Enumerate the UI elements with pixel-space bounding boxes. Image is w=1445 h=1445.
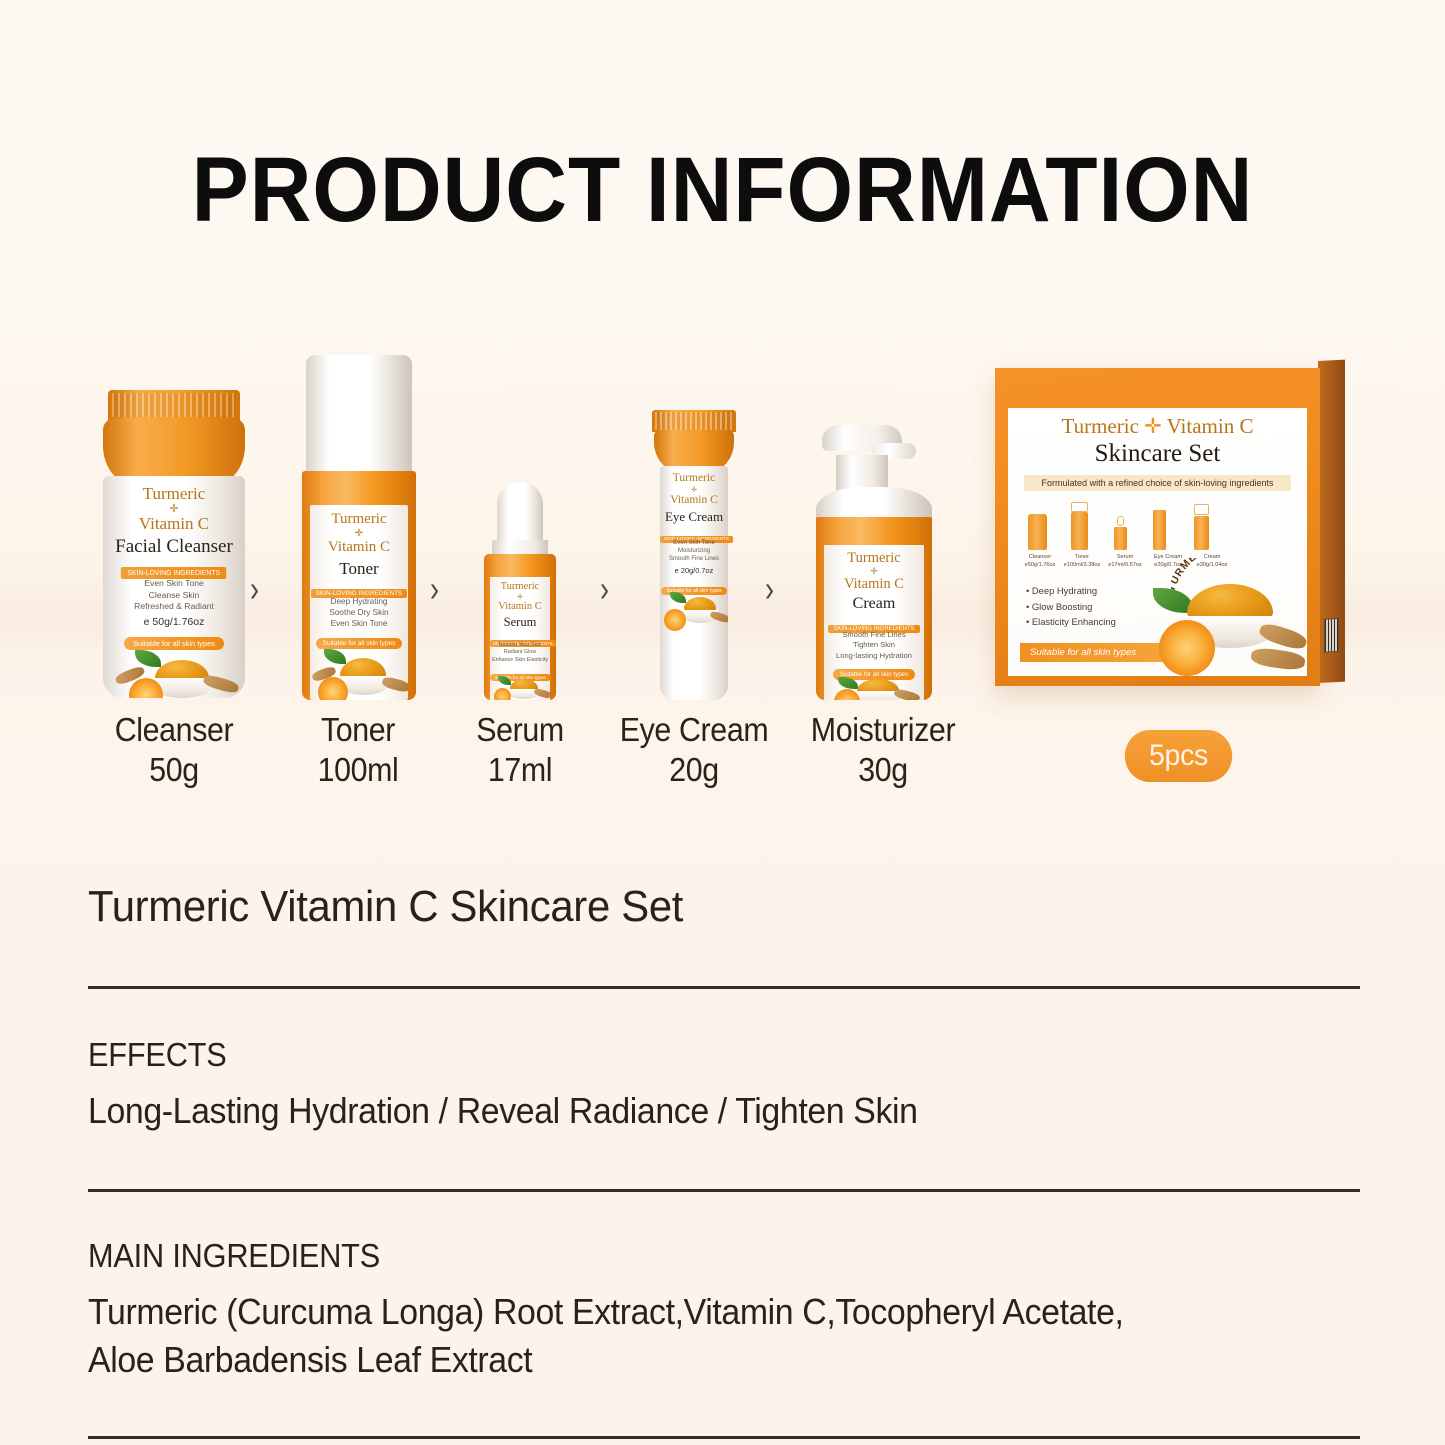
benefit-line: Smooth Fine Lines xyxy=(660,555,728,563)
leaf-icon xyxy=(498,676,511,685)
tube-shape xyxy=(1153,510,1166,550)
benefit-line: Refreshed & Radiant xyxy=(103,601,245,613)
product-cleanser[interactable]: Turmeric ✛ Vitamin C Facial Cleanser SKI… xyxy=(98,390,250,700)
pcs-badge: 5pcs xyxy=(1125,730,1232,782)
caption-serum: Serum 17ml xyxy=(441,710,599,790)
benefit-line: Enhance Skin Elasticity xyxy=(490,657,550,664)
serum-dropper-cap xyxy=(497,482,543,544)
eye-cream-benefits: Even Skin Tone Moisturizing Smooth Fine … xyxy=(660,539,728,563)
cleanser-benefits: Even Skin Tone Cleanse Skin Refreshed & … xyxy=(103,578,245,613)
turmeric-root xyxy=(1250,646,1306,671)
plus-icon: ✛ xyxy=(660,485,728,494)
cleanser-sli-badge: SKIN-LOVING INGREDIENTS xyxy=(121,567,227,579)
product-eye-cream[interactable]: Turmeric ✛ Vitamin C Eye Cream SKIN-LOVI… xyxy=(640,410,748,700)
serum-product-name: Serum xyxy=(490,615,550,630)
toner-turmeric-photo xyxy=(310,647,408,700)
dropper-shape xyxy=(1117,516,1124,526)
gift-box-front: Turmeric ✛ Vitamin C Skincare Set Formul… xyxy=(995,368,1320,686)
moisturizer-brand-top: Turmeric xyxy=(824,550,924,567)
gift-box-tagline: Formulated with a refined choice of skin… xyxy=(1024,475,1291,491)
pump-shape xyxy=(1194,504,1209,515)
caption-eye-cream: Eye Cream 20g xyxy=(602,710,786,790)
eye-cream-brand-bottom: Vitamin C xyxy=(660,494,728,506)
caption-size: 100ml xyxy=(279,750,437,790)
toner-product-name: Toner xyxy=(310,559,408,579)
bottle-shape xyxy=(1194,516,1209,550)
item-size: e50g/1.76oz xyxy=(1025,562,1056,568)
leaf-icon xyxy=(135,650,161,667)
benefit-line: Long-lasting Hydration xyxy=(824,651,924,661)
plus-icon: ✛ xyxy=(490,593,550,601)
gift-box-turmeric-photo xyxy=(1147,558,1307,676)
divider-bottom xyxy=(88,1436,1360,1439)
separator-chevron: › xyxy=(250,569,259,611)
effects-body: Long-Lasting Hydration / Reveal Radiance… xyxy=(88,1087,1284,1135)
cap-shape xyxy=(1071,502,1088,512)
toner-benefits: Deep Hydrating Soothe Dry Skin Even Skin… xyxy=(310,596,408,629)
product-serum[interactable]: Turmeric ✛ Vitamin C Serum SKIN-LOVING I… xyxy=(470,482,570,700)
orange-slice xyxy=(494,688,511,700)
item-caption: Cleanser e50g/1.76oz xyxy=(1020,554,1060,569)
page-title: PRODUCT INFORMATION xyxy=(51,140,1395,240)
benefit-line: Deep Hydrating xyxy=(310,596,408,607)
gift-box-set-name: Skincare Set xyxy=(1008,440,1307,468)
moisturizer-shoulder xyxy=(816,487,932,519)
moisturizer-turmeric-photo xyxy=(824,677,924,700)
item-caption: Serum e17ml/0.57oz xyxy=(1104,554,1146,569)
ingredients-body-line2: Aloe Barbadensis Leaf Extract xyxy=(88,1336,1284,1384)
orange-slice xyxy=(318,677,348,700)
divider-top xyxy=(88,986,1360,989)
leaf-icon xyxy=(670,592,686,603)
separator-chevron: › xyxy=(600,569,609,611)
item-name: Serum xyxy=(1117,554,1133,560)
effects-heading: EFFECTS xyxy=(88,1035,1271,1075)
icon-serum xyxy=(1110,516,1132,550)
leaf-icon xyxy=(324,649,346,664)
caption-name: Moisturizer xyxy=(783,710,984,750)
orange-slice xyxy=(664,609,686,631)
turmeric-root xyxy=(709,610,728,624)
benefit-line: Tighten Skin xyxy=(824,640,924,650)
brand-left: Turmeric xyxy=(1062,414,1139,438)
cleanser-net-weight: e 50g/1.76oz xyxy=(103,616,245,628)
eye-cream-crimp-ribs xyxy=(655,412,733,430)
separator-chevron: › xyxy=(430,569,439,611)
item-name: Toner xyxy=(1075,554,1089,560)
bottle-shape xyxy=(1114,527,1127,550)
orange-slice xyxy=(1159,620,1215,676)
gift-box-spine xyxy=(1318,360,1345,683)
item-size: e17ml/0.57oz xyxy=(1108,562,1142,568)
benefit-line: Even Skin Tone xyxy=(310,618,408,629)
benefit-line: Moisturizing xyxy=(660,547,728,555)
serum-benefits: Nourish Your Skin Radiant Glow Enhance S… xyxy=(490,642,550,664)
caption-size: 30g xyxy=(783,750,984,790)
ingredients-body-line1: Turmeric (Curcuma Longa) Root Extract,Vi… xyxy=(88,1288,1284,1336)
divider-middle xyxy=(88,1189,1360,1192)
caption-cleanser: Cleanser 50g xyxy=(95,710,253,790)
bottle-shape xyxy=(1071,512,1088,550)
caption-moisturizer: Moisturizer 30g xyxy=(783,710,984,790)
toner-brand-bottom: Vitamin C xyxy=(310,539,408,556)
gift-box-bullets: • Deep Hydrating • Glow Boosting • Elast… xyxy=(1026,583,1116,630)
caption-name: Cleanser xyxy=(95,710,253,750)
moisturizer-benefits: Smooth Fine Lines Tighten Skin Long-last… xyxy=(824,630,924,661)
bullet-line: • Elasticity Enhancing xyxy=(1026,614,1116,630)
tube-shape xyxy=(1028,514,1047,550)
turmeric-root xyxy=(381,676,408,694)
product-toner[interactable]: Turmeric ✛ Vitamin C Toner SKIN-LOVING I… xyxy=(298,355,420,700)
caption-name: Eye Cream xyxy=(602,710,786,750)
benefit-line: Even Skin Tone xyxy=(660,539,728,547)
bullet-line: • Glow Boosting xyxy=(1026,599,1116,615)
cleanser-brand-top: Turmeric xyxy=(103,484,245,504)
caption-name: Serum xyxy=(441,710,599,750)
barcode-icon xyxy=(1324,618,1339,653)
eye-cream-product-name: Eye Cream xyxy=(660,509,728,525)
gift-box-brand: Turmeric ✛ Vitamin C xyxy=(1008,414,1307,439)
eye-cream-brand-top: Turmeric xyxy=(660,472,728,484)
caption-size: 20g xyxy=(602,750,786,790)
serum-brand-bottom: Vitamin C xyxy=(490,601,550,612)
item-size: e100ml/3.38oz xyxy=(1064,562,1101,568)
eye-cream-net-weight: e 20g/0.7oz xyxy=(660,566,728,575)
plus-icon: ✛ xyxy=(1144,414,1162,438)
cleanser-cap-ribs xyxy=(112,393,236,417)
item-name: Cleanser xyxy=(1029,554,1051,560)
icon-cream xyxy=(1188,504,1216,550)
product-info-section: Turmeric Vitamin C Skincare Set EFFECTS … xyxy=(88,880,1360,1439)
cleanser-turmeric-photo xyxy=(103,648,245,698)
caption-size: 50g xyxy=(95,750,253,790)
set-title: Turmeric Vitamin C Skincare Set xyxy=(88,880,1296,934)
caption-name: Toner xyxy=(279,710,437,750)
toner-brand-top: Turmeric xyxy=(310,511,408,528)
benefit-line: Smooth Fine Lines xyxy=(824,630,924,640)
moisturizer-brand-bottom: Vitamin C xyxy=(824,576,924,593)
benefit-line: Soothe Dry Skin xyxy=(310,607,408,618)
gift-box-item-icons xyxy=(1020,498,1230,550)
serum-brand-top: Turmeric xyxy=(490,581,550,592)
brand-right: Vitamin C xyxy=(1167,414,1254,438)
cleanser-product-name: Facial Cleanser xyxy=(103,536,245,558)
item-caption: Toner e100ml/3.38oz xyxy=(1060,554,1104,569)
caption-size: 17ml xyxy=(441,750,599,790)
serum-turmeric-photo xyxy=(490,676,550,700)
benefit-line: Cleanse Skin xyxy=(103,590,245,602)
product-information-page: PRODUCT INFORMATION Turmeric ✛ Vitamin C… xyxy=(0,0,1445,1445)
icon-eye-cream xyxy=(1148,508,1172,550)
leaf-icon xyxy=(838,677,858,689)
ingredients-heading: MAIN INGREDIENTS xyxy=(88,1236,1271,1276)
separator-chevron: › xyxy=(765,569,774,611)
caption-toner: Toner 100ml xyxy=(279,710,437,790)
bullet-line: • Deep Hydrating xyxy=(1026,583,1116,599)
cleanser-brand-bottom: Vitamin C xyxy=(103,514,245,534)
moisturizer-product-name: Cream xyxy=(824,595,924,613)
benefit-line: Even Skin Tone xyxy=(103,578,245,590)
eye-cream-turmeric-photo xyxy=(660,591,728,631)
turmeric-root xyxy=(533,688,550,700)
icon-cleanser xyxy=(1024,510,1050,550)
toner-cap xyxy=(306,355,412,473)
gift-box-label: Turmeric ✛ Vitamin C Skincare Set Formul… xyxy=(1008,408,1307,676)
plus-icon: ✛ xyxy=(310,528,408,539)
turmeric-root xyxy=(1258,621,1307,652)
gift-box[interactable]: Turmeric ✛ Vitamin C Skincare Set Formul… xyxy=(995,358,1345,688)
product-moisturizer[interactable]: Turmeric ✛ Vitamin C Cream SKIN-LOVING I… xyxy=(810,425,938,700)
benefit-line: Radiant Glow xyxy=(490,649,550,656)
icon-toner xyxy=(1066,502,1094,550)
benefit-line: Nourish Your Skin xyxy=(490,642,550,649)
